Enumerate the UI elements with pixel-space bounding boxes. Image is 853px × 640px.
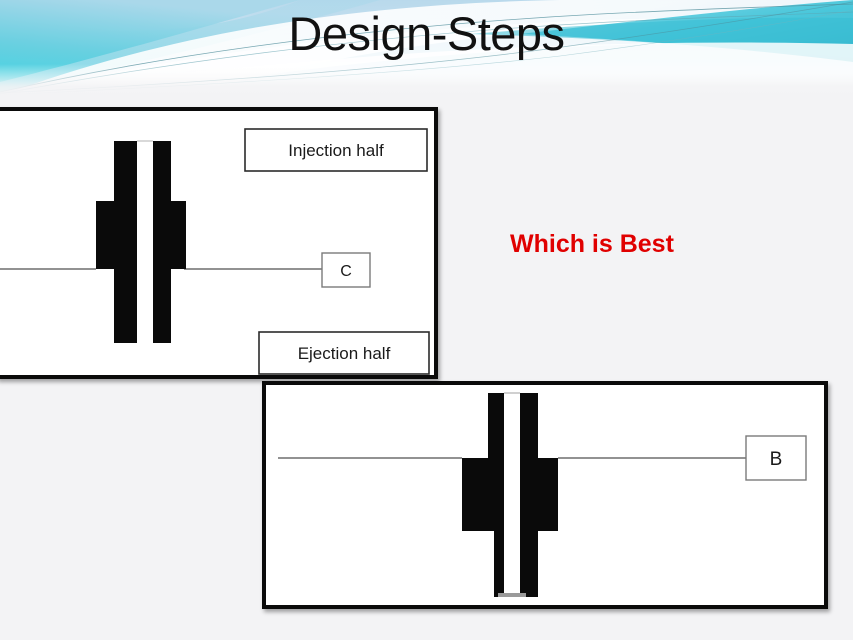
svg-text:Ejection half: Ejection half (298, 344, 391, 363)
mold-cavity-slot (504, 393, 520, 597)
svg-text:Injection half: Injection half (288, 141, 384, 160)
mold-diagram-b-image: B (262, 381, 828, 609)
mold-cavity-slot (137, 141, 153, 343)
page-title: Design-Steps (0, 4, 853, 64)
svg-text:B: B (770, 449, 783, 470)
callout-box-b: B (746, 436, 806, 480)
mold-diagram-c-image: Injection half C Ejection half (0, 107, 438, 379)
which-is-best-callout: Which is Best (510, 230, 674, 259)
ejection-half-label-box: Ejection half (259, 332, 429, 374)
presentation-slide: Design-Steps Injection half (0, 0, 853, 640)
injection-half-label-box: Injection half (245, 129, 427, 171)
svg-text:C: C (340, 263, 352, 280)
callout-box-c: C (322, 253, 370, 287)
